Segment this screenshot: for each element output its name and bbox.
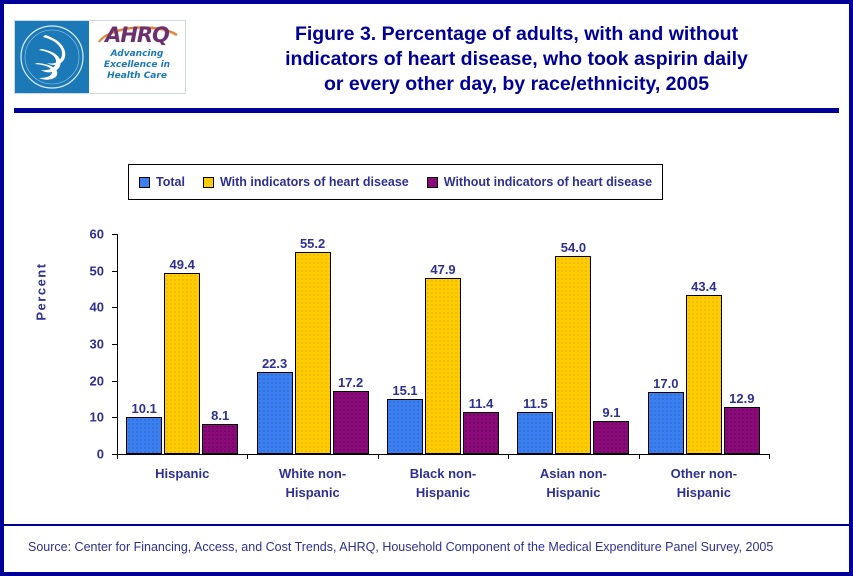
x-tick-mark bbox=[508, 454, 509, 459]
x-tick-mark bbox=[378, 454, 379, 459]
bar-value-label: 54.0 bbox=[561, 241, 586, 254]
bar-set: 22.355.217.2 bbox=[247, 234, 377, 454]
x-axis-label: Black non-Hispanic bbox=[378, 464, 508, 502]
ahrq-mark-text: AHRQ bbox=[105, 25, 169, 46]
bar[interactable]: 55.2 bbox=[295, 252, 331, 454]
bar[interactable]: 9.1 bbox=[593, 421, 629, 454]
legend-label: Total bbox=[156, 175, 185, 189]
source-note: Source: Center for Financing, Access, an… bbox=[28, 540, 773, 554]
x-axis-label-line: Hispanic bbox=[639, 483, 769, 502]
x-axis-label: Other non-Hispanic bbox=[639, 464, 769, 502]
bar-group: 17.043.412.9 bbox=[639, 234, 769, 454]
y-axis-title: Percent bbox=[34, 227, 49, 357]
bar-set: 10.149.48.1 bbox=[117, 234, 247, 454]
x-axis-label-line: Hispanic bbox=[247, 483, 377, 502]
chart-area: TotalWith indicators of heart diseaseWit… bbox=[4, 4, 849, 572]
bar-set: 17.043.412.9 bbox=[639, 234, 769, 454]
y-tick-label: 20 bbox=[90, 374, 104, 387]
legend-swatch-icon bbox=[203, 177, 214, 188]
bar-value-label: 17.2 bbox=[338, 376, 363, 389]
y-tick-label: 50 bbox=[90, 264, 104, 277]
bar-group: 22.355.217.2 bbox=[247, 234, 377, 454]
y-tick-label: 30 bbox=[90, 338, 104, 351]
x-axis-label-line: Hispanic bbox=[117, 464, 247, 483]
x-axis-label: White non-Hispanic bbox=[247, 464, 377, 502]
bar-value-label: 49.4 bbox=[170, 258, 195, 271]
bar[interactable]: 12.9 bbox=[724, 407, 760, 454]
bar[interactable]: 22.3 bbox=[257, 372, 293, 454]
plot-axes: 0102030405060 10.149.48.122.355.217.215.… bbox=[117, 234, 769, 454]
bar[interactable]: 15.1 bbox=[387, 399, 423, 454]
bar-value-label: 8.1 bbox=[211, 409, 229, 422]
y-tick-label: 60 bbox=[90, 228, 104, 241]
legend-swatch-icon bbox=[427, 177, 438, 188]
x-tick-mark bbox=[769, 454, 770, 459]
x-tick-mark bbox=[247, 454, 248, 459]
bar-value-label: 15.1 bbox=[392, 384, 417, 397]
x-tick-mark bbox=[117, 454, 118, 459]
legend-label: With indicators of heart disease bbox=[220, 175, 409, 189]
legend-swatch-icon bbox=[139, 177, 150, 188]
x-axis-label-line: Black non- bbox=[378, 464, 508, 483]
bar[interactable]: 43.4 bbox=[686, 295, 722, 454]
bar-set: 11.554.09.1 bbox=[508, 234, 638, 454]
y-tick-label: 0 bbox=[97, 448, 104, 461]
bar[interactable]: 54.0 bbox=[555, 256, 591, 454]
x-axis-label-line: Asian non- bbox=[508, 464, 638, 483]
bar[interactable]: 49.4 bbox=[164, 273, 200, 454]
bar-value-label: 22.3 bbox=[262, 357, 287, 370]
y-tick-label: 40 bbox=[90, 301, 104, 314]
bar[interactable]: 17.2 bbox=[333, 391, 369, 454]
bar[interactable]: 10.1 bbox=[126, 417, 162, 454]
x-axis-label: Hispanic bbox=[117, 464, 247, 502]
x-axis-label-line: Hispanic bbox=[378, 483, 508, 502]
chart-legend: TotalWith indicators of heart diseaseWit… bbox=[128, 164, 663, 200]
bar-value-label: 47.9 bbox=[430, 263, 455, 276]
bar-set: 15.147.911.4 bbox=[378, 234, 508, 454]
legend-item-2[interactable]: Without indicators of heart disease bbox=[427, 175, 652, 189]
bar-value-label: 11.4 bbox=[469, 397, 494, 410]
footer-divider bbox=[4, 524, 849, 526]
bar-value-label: 43.4 bbox=[691, 280, 716, 293]
x-axis-labels: HispanicWhite non-HispanicBlack non-Hisp… bbox=[117, 464, 769, 502]
bar-group: 10.149.48.1 bbox=[117, 234, 247, 454]
x-axis-label-line: White non- bbox=[247, 464, 377, 483]
legend-item-0[interactable]: Total bbox=[139, 175, 185, 189]
bar[interactable]: 11.4 bbox=[463, 412, 499, 454]
x-tick-mark bbox=[639, 454, 640, 459]
bar[interactable]: 11.5 bbox=[517, 412, 553, 454]
x-axis-label-line: Other non- bbox=[639, 464, 769, 483]
bar[interactable]: 47.9 bbox=[425, 278, 461, 454]
bar-value-label: 11.5 bbox=[523, 397, 548, 410]
bar-group: 11.554.09.1 bbox=[508, 234, 638, 454]
x-axis-label-line: Hispanic bbox=[508, 483, 638, 502]
x-axis-label: Asian non-Hispanic bbox=[508, 464, 638, 502]
y-tick-label: 10 bbox=[90, 411, 104, 424]
bar[interactable]: 8.1 bbox=[202, 424, 238, 454]
bar-value-label: 10.1 bbox=[132, 402, 157, 415]
bar-groups: 10.149.48.122.355.217.215.147.911.411.55… bbox=[117, 234, 769, 454]
legend-item-1[interactable]: With indicators of heart disease bbox=[203, 175, 409, 189]
bar-value-label: 12.9 bbox=[729, 392, 754, 405]
bar-value-label: 9.1 bbox=[602, 406, 620, 419]
bar[interactable]: 17.0 bbox=[648, 392, 684, 454]
legend-label: Without indicators of heart disease bbox=[444, 175, 652, 189]
figure-container: AHRQ Advancing Excellence in Health Care… bbox=[0, 0, 853, 576]
x-axis-line bbox=[117, 454, 769, 455]
bar-group: 15.147.911.4 bbox=[378, 234, 508, 454]
bar-value-label: 55.2 bbox=[300, 237, 325, 250]
bar-value-label: 17.0 bbox=[653, 377, 678, 390]
